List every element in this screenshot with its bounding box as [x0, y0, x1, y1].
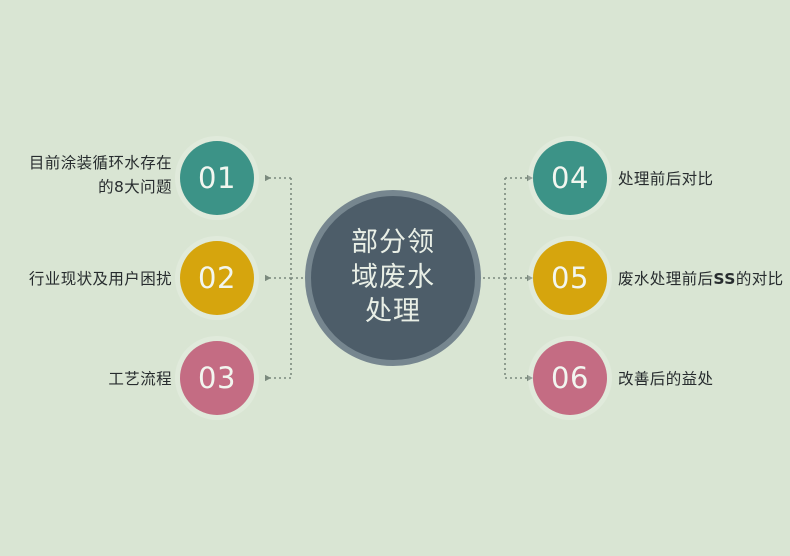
hub-title: 部分领 域废水 处理: [351, 226, 435, 330]
node-number-04: 04: [551, 164, 589, 193]
node-circle-04[interactable]: 04: [533, 141, 607, 215]
node-number-05: 05: [551, 264, 589, 293]
node-label-05-emphasis: SS: [713, 270, 735, 288]
node-label-05-prefix: 废水处理前后: [618, 270, 713, 288]
node-number-06: 06: [551, 364, 589, 393]
node-label-05-suffix: 的对比: [736, 270, 784, 288]
node-label-04: 处理前后对比: [618, 167, 790, 191]
diagram-canvas: 部分领 域废水 处理 01 目前涂装循环水存在 的8大问题 02 行业现状及用户…: [0, 0, 790, 556]
node-circle-06[interactable]: 06: [533, 341, 607, 415]
node-circle-02[interactable]: 02: [180, 241, 254, 315]
node-label-05: 废水处理前后SS的对比: [618, 267, 790, 291]
node-label-01: 目前涂装循环水存在 的8大问题: [0, 151, 172, 199]
node-label-06: 改善后的益处: [618, 367, 790, 391]
node-number-03: 03: [198, 364, 236, 393]
node-label-02: 行业现状及用户困扰: [0, 267, 172, 291]
node-circle-05[interactable]: 05: [533, 241, 607, 315]
node-circle-03[interactable]: 03: [180, 341, 254, 415]
node-number-02: 02: [198, 264, 236, 293]
hub-circle[interactable]: 部分领 域废水 处理: [305, 190, 481, 366]
node-number-01: 01: [198, 164, 236, 193]
node-label-03: 工艺流程: [0, 367, 172, 391]
node-circle-01[interactable]: 01: [180, 141, 254, 215]
